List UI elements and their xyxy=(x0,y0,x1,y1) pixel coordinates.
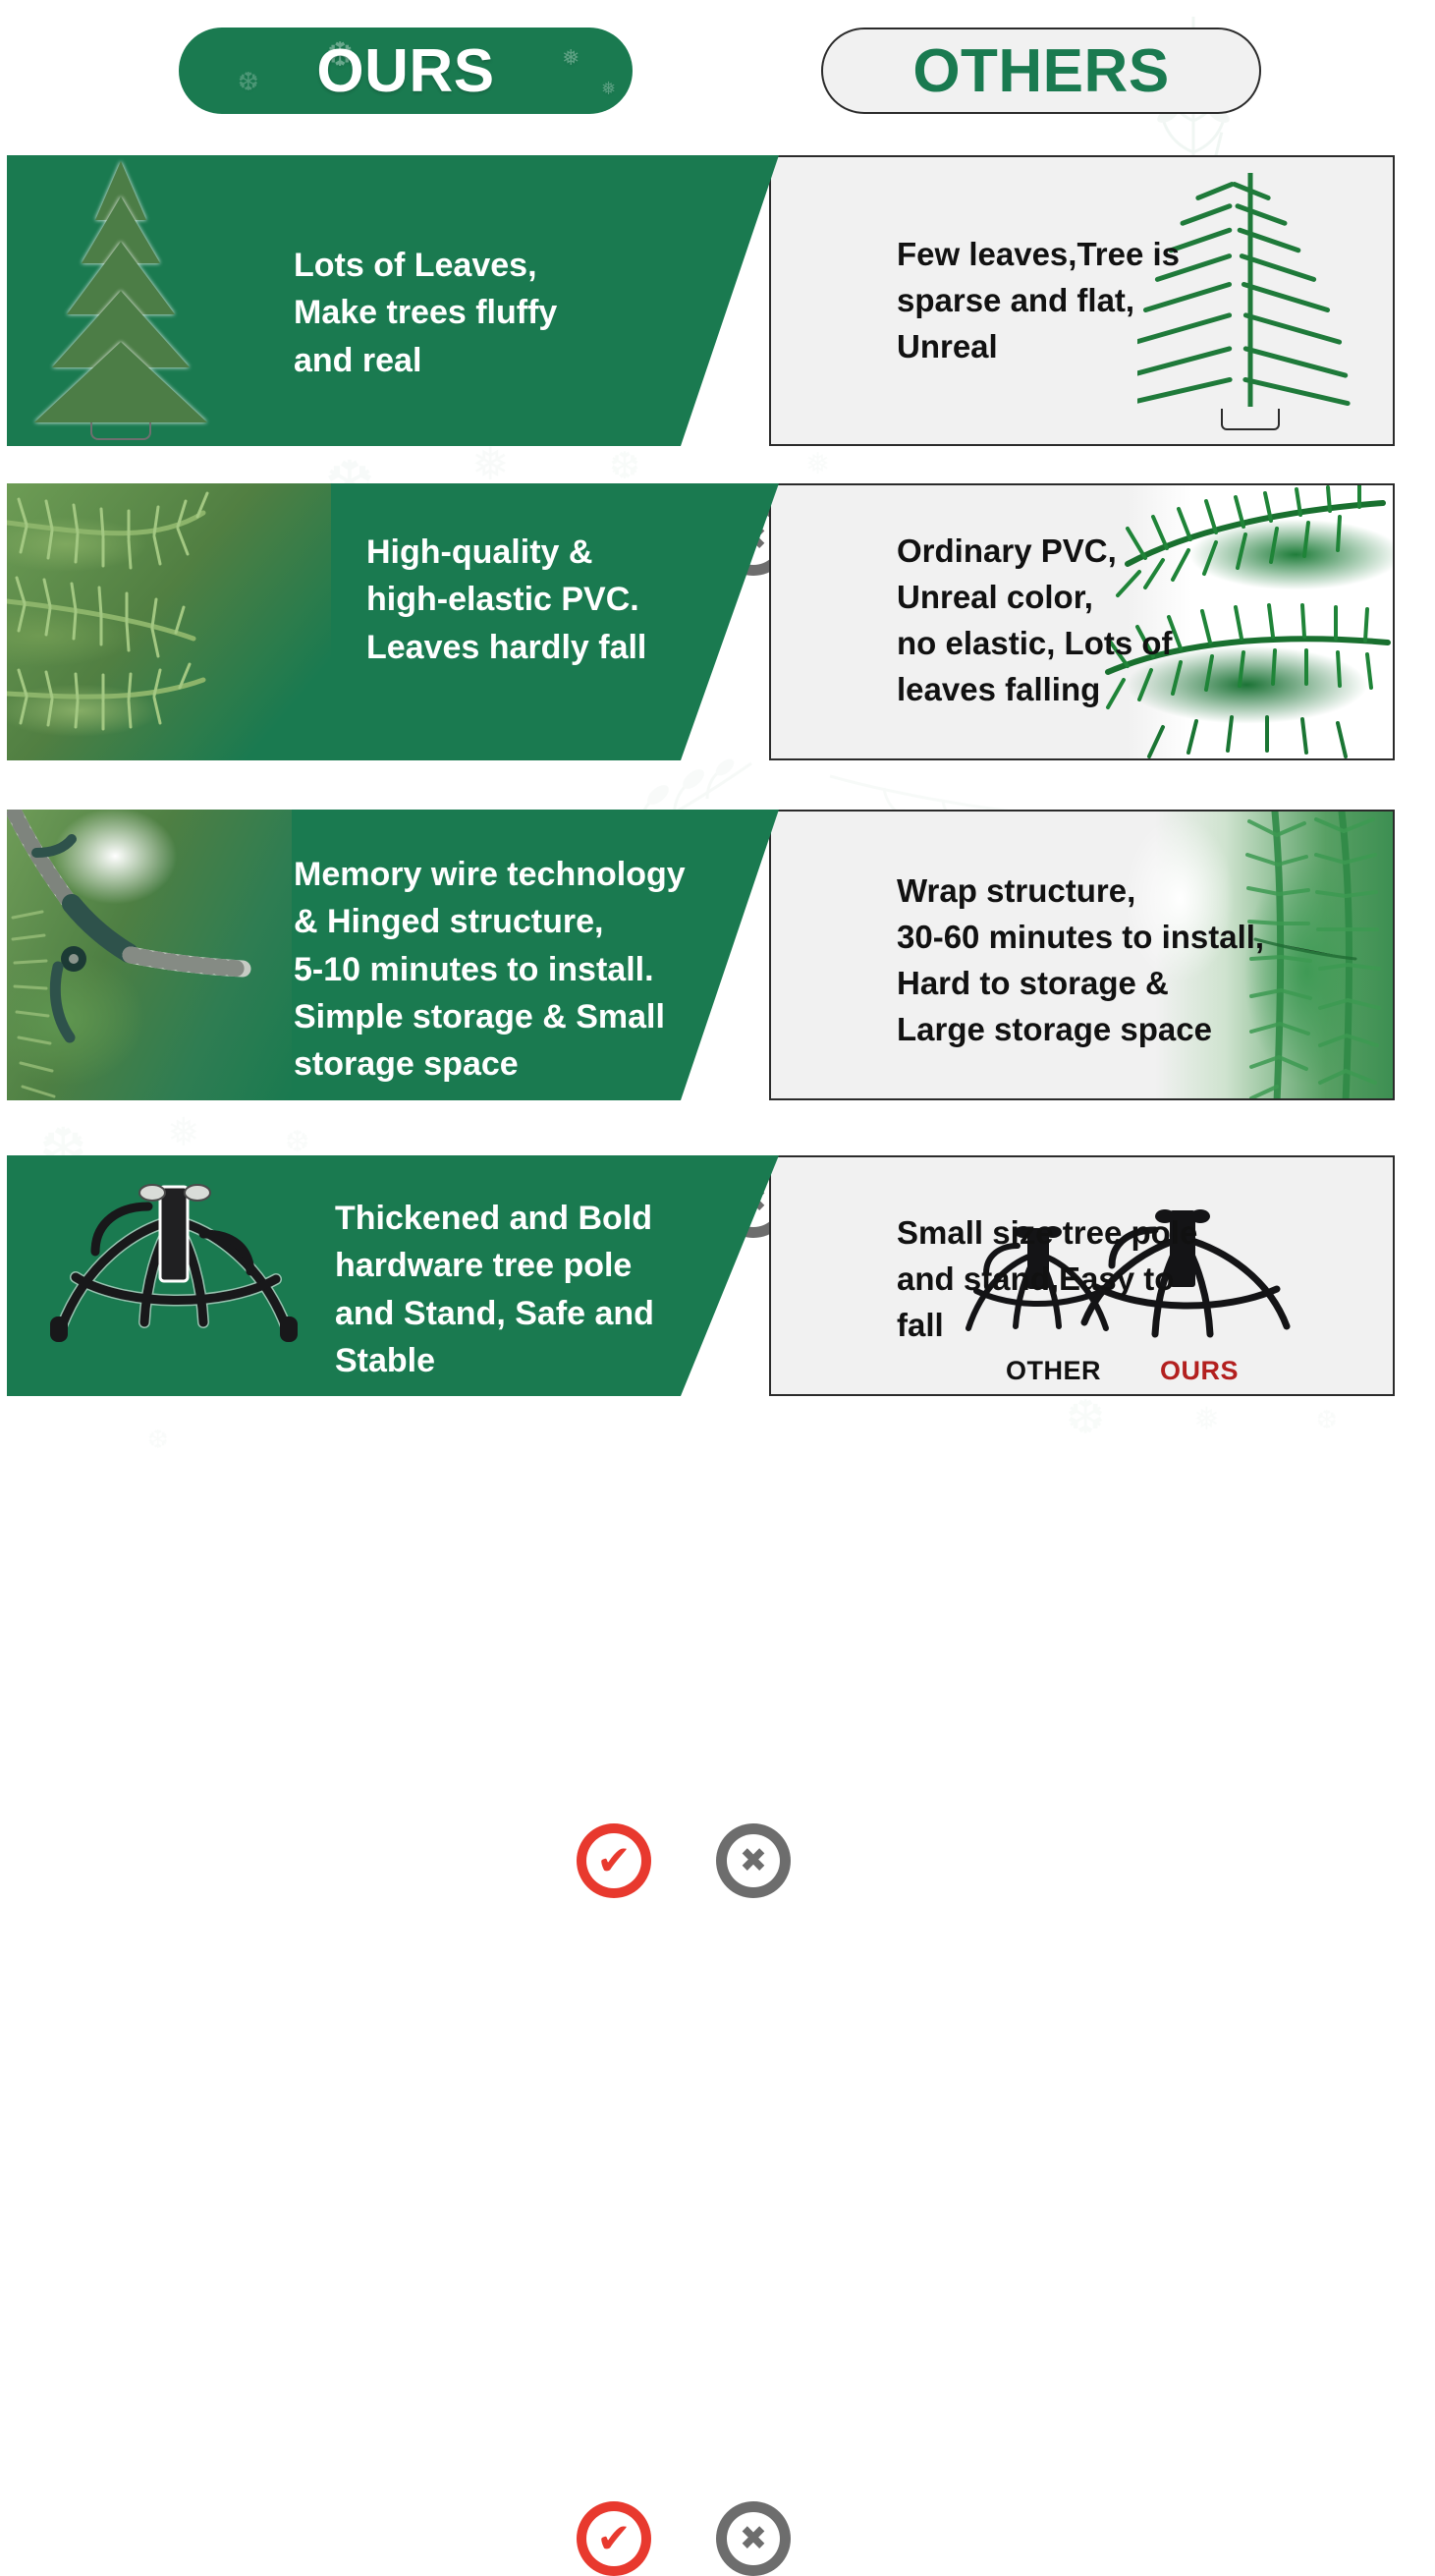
thickened-stand-photo xyxy=(28,1169,323,1380)
ours-pane: Memory wire technology & Hinged structur… xyxy=(7,810,779,1100)
cross-badge: ✖ xyxy=(716,2501,791,2576)
cross-badge: ✖ xyxy=(716,1823,791,1898)
snowflake-icon: ❆ xyxy=(238,67,259,97)
header-label-others: OTHERS xyxy=(912,36,1169,106)
comparison-row: OTHER OURS Small size tree pole and stan… xyxy=(7,1155,1395,1396)
others-text: Few leaves,Tree is sparse and flat, Unre… xyxy=(897,232,1180,370)
header-pill-others: OTHERS xyxy=(821,28,1261,114)
header-label-ours: OURS xyxy=(316,36,494,106)
others-text: Wrap structure, 30-60 minutes to install… xyxy=(897,868,1264,1052)
check-icon: ✔ xyxy=(596,2518,631,2559)
check-badge: ✔ xyxy=(577,2501,651,2576)
ours-pane: High-quality & high-elastic PVC. Leaves … xyxy=(7,483,779,760)
ours-text: Thickened and Bold hardware tree pole an… xyxy=(335,1195,654,1384)
snowflake-icon: ❅ xyxy=(601,79,617,99)
others-text: Ordinary PVC, Unreal color, no elastic, … xyxy=(897,529,1173,712)
fluffy-tree-photo xyxy=(15,155,226,446)
snowflake-icon: ❅ xyxy=(805,447,830,481)
real-needle-closeup-photo xyxy=(7,483,331,760)
header-pill-ours: ❆ ❅ ❆ ❅ OURS xyxy=(179,28,633,114)
cross-icon: ✖ xyxy=(740,2522,768,2555)
snowflake-icon: ❆ xyxy=(285,1125,309,1159)
snowflake-icon: ❆ xyxy=(147,1425,169,1455)
snowflake-icon: ❆ xyxy=(609,444,640,488)
header: ❆ ❅ ❆ ❅ OURS OTHERS xyxy=(0,0,1435,145)
snowflake-icon: ❅ xyxy=(562,45,580,71)
ours-pane: Thickened and Bold hardware tree pole an… xyxy=(7,1155,779,1396)
stand-label-other: OTHER xyxy=(1006,1356,1101,1386)
comparison-row: Ordinary PVC, Unreal color, no elastic, … xyxy=(7,483,1395,760)
snowflake-icon: ❆ xyxy=(1316,1405,1338,1435)
comparison-row: Wrap structure, 30-60 minutes to install… xyxy=(7,810,1395,1100)
ours-text: Lots of Leaves, Make trees fluffy and re… xyxy=(294,242,557,384)
ours-text: High-quality & high-elastic PVC. Leaves … xyxy=(366,529,646,671)
others-pane: Ordinary PVC, Unreal color, no elastic, … xyxy=(769,483,1395,760)
ours-text: Memory wire technology & Hinged structur… xyxy=(294,851,686,1088)
cross-icon: ✖ xyxy=(740,1844,768,1877)
comparison-row: Few leaves,Tree is sparse and flat, Unre… xyxy=(7,155,1395,446)
check-icon: ✔ xyxy=(596,1840,631,1881)
others-pane: Wrap structure, 30-60 minutes to install… xyxy=(769,810,1395,1100)
snowflake-icon: ❆ xyxy=(1066,1390,1105,1445)
others-pane: Few leaves,Tree is sparse and flat, Unre… xyxy=(769,155,1395,446)
snowflake-icon: ❅ xyxy=(167,1110,200,1155)
check-badge: ✔ xyxy=(577,1823,651,1898)
others-text: Small size tree pole and stand,Easy to f… xyxy=(897,1210,1197,1349)
memory-wire-hinge-photo xyxy=(7,810,292,1100)
ours-pane: Lots of Leaves, Make trees fluffy and re… xyxy=(7,155,779,446)
stand-label-ours: OURS xyxy=(1160,1356,1239,1386)
snowflake-icon: ❅ xyxy=(1193,1400,1220,1437)
others-pane: OTHER OURS Small size tree pole and stan… xyxy=(769,1155,1395,1396)
